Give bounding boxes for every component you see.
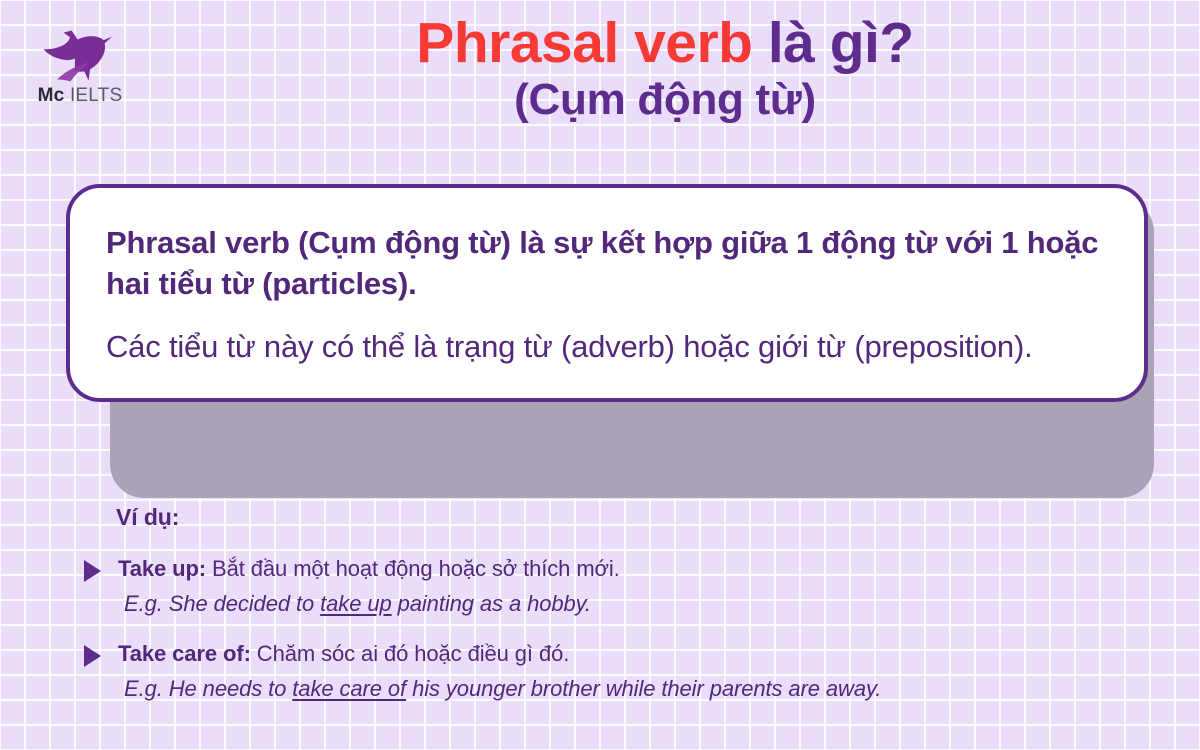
example-sentence-suffix: his younger brother while their parents … — [406, 676, 881, 701]
definition-secondary-text: Các tiểu từ này có thể là trạng từ (adve… — [106, 326, 1108, 367]
definition-primary-text: Phrasal verb (Cụm động từ) là sự kết hợp… — [106, 222, 1108, 304]
brand-logo: Mc IELTS — [32, 22, 128, 105]
example-definition-line: Take up: Bắt đầu một hoạt động hoặc sở t… — [118, 553, 1160, 585]
page-title: Phrasal verb là gì? — [170, 14, 1160, 73]
page-header: Mc IELTS Phrasal verb là gì? (Cụm động t… — [0, 0, 1200, 160]
page-title-highlight: Phrasal verb — [416, 11, 752, 75]
definition-card-wrapper: Phrasal verb (Cụm động từ) là sự kết hợp… — [66, 184, 1148, 402]
hummingbird-icon — [41, 22, 119, 84]
logo-wordmark: Mc IELTS — [32, 86, 128, 105]
definition-card: Phrasal verb (Cụm động từ) là sự kết hợp… — [66, 184, 1148, 402]
example-sentence-phrase: take up — [320, 591, 391, 616]
triangle-bullet-icon — [84, 645, 101, 667]
list-item: Take care of: Chăm sóc ai đó hoặc điều g… — [84, 638, 1160, 705]
triangle-bullet-icon — [84, 560, 101, 582]
example-meaning: Chăm sóc ai đó hoặc điều gì đó. — [251, 641, 569, 666]
examples-section: Ví dụ: Take up: Bắt đầu một hoạt động ho… — [84, 504, 1160, 723]
logo-word-mc: Mc — [38, 85, 65, 106]
logo-word-ielts-text: IELTS — [70, 85, 122, 106]
example-sentence-prefix: E.g. She decided to — [124, 591, 320, 616]
page-title-rest: là gì? — [753, 11, 914, 75]
example-sentence: E.g. He needs to take care of his younge… — [124, 673, 1160, 705]
example-meaning: Bắt đầu một hoạt động hoặc sở thích mới. — [206, 556, 620, 581]
examples-heading: Ví dụ: — [116, 504, 1160, 531]
example-sentence-phrase: take care of — [292, 676, 406, 701]
title-block: Phrasal verb là gì? (Cụm động từ) — [170, 14, 1160, 123]
example-term: Take up: — [118, 556, 206, 581]
example-sentence: E.g. She decided to take up painting as … — [124, 588, 1160, 620]
example-sentence-suffix: painting as a hobby. — [392, 591, 591, 616]
list-item: Take up: Bắt đầu một hoạt động hoặc sở t… — [84, 553, 1160, 620]
example-definition-line: Take care of: Chăm sóc ai đó hoặc điều g… — [118, 638, 1160, 670]
example-sentence-prefix: E.g. He needs to — [124, 676, 292, 701]
example-term: Take care of: — [118, 641, 251, 666]
page-subtitle: (Cụm động từ) — [170, 77, 1160, 123]
